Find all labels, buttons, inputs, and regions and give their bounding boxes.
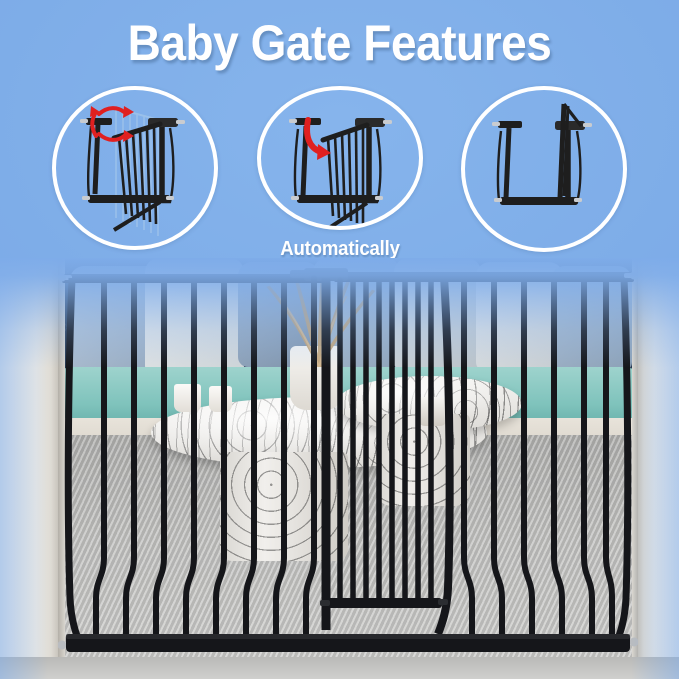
gate-frame-post-left	[68, 278, 80, 644]
gate-auto-close-icon	[261, 90, 419, 230]
wall-right	[638, 258, 679, 679]
gate-bars-left	[96, 278, 314, 636]
product-photo	[0, 258, 679, 679]
gate-handle-grip	[290, 270, 310, 278]
feature-circle-2	[257, 86, 423, 230]
gate-bars-door	[340, 277, 431, 602]
feature-circle-3	[461, 86, 627, 252]
page-title: Baby Gate Features	[27, 18, 652, 68]
gate-bars-right	[464, 275, 612, 636]
gate-structure	[58, 258, 638, 679]
gate-hold-open-icon	[465, 90, 623, 248]
wall-left	[0, 258, 58, 679]
gate-door-panel	[320, 276, 450, 634]
product-feature-image: Baby Gate Features	[0, 0, 679, 679]
baby-gate[interactable]	[58, 258, 638, 679]
door-stile-right	[438, 276, 450, 634]
gate-frame-post-right	[616, 278, 628, 644]
door-bottom-rail	[326, 598, 442, 608]
gate-dual-swing-icon	[56, 90, 214, 248]
feature-circle-1	[52, 86, 218, 250]
